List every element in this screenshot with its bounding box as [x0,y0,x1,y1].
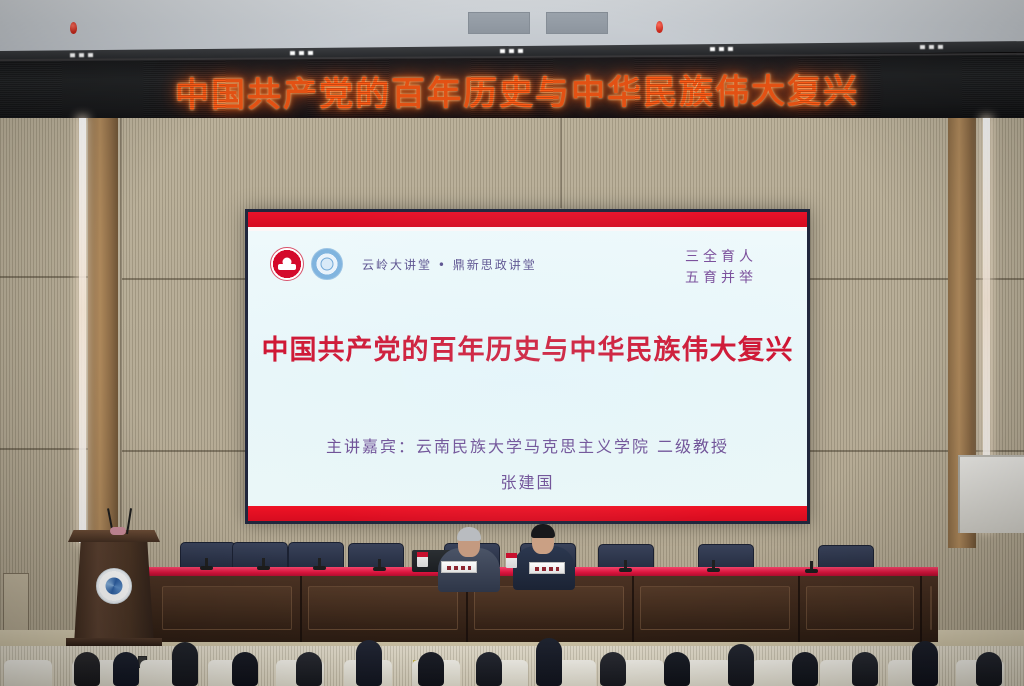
slide-body: 云岭大讲堂 • 鼎新思政讲堂 三全育人 五育并举 中国共产党的百年历史与中华民族… [248,231,807,506]
table-microphone-base [257,566,270,570]
red-emblem-icon [270,247,304,281]
podium-base [66,638,162,646]
audience-head [74,652,100,686]
audience-head [976,652,1002,686]
audience-head [664,652,690,686]
ceiling-led-icon [710,47,734,51]
ceiling-vent-icon [546,12,608,34]
slide-speaker-block: 主讲嘉宾：云南民族大学马克思主义学院 二级教授 张建国 [248,429,807,501]
audience-chair [684,660,732,686]
audience-head [356,640,382,686]
wall-access-door[interactable] [3,573,29,635]
led-marquee-banner: 中国共产党的百年历史与中华民族伟大复兴 [0,53,1024,127]
water-cup [506,553,517,568]
table-panel [806,586,914,630]
table-microphone-base [707,568,720,572]
presentation-slide: 云岭大讲堂 • 鼎新思政讲堂 三全育人 五育并举 中国共产党的百年历史与中华民族… [248,212,807,521]
ceiling-indicator-light-icon [656,21,663,33]
table-panel [308,586,458,630]
table-panel [640,586,790,630]
panelist-hair [531,524,555,538]
ceiling-led-icon [920,45,944,49]
audience-head [232,652,258,686]
wall-wood-column [88,118,118,538]
slide-motto-line-1: 三全育人 [685,247,757,268]
slide-title: 中国共产党的百年历史与中华民族伟大复兴 [248,328,807,367]
table-microphone-base [805,569,818,573]
panelist-nameplate [529,562,565,574]
slide-bottom-accent-bar [248,506,807,521]
audience-head [728,644,754,686]
ceiling-vent-icon [468,12,530,34]
podium-item [110,527,126,535]
wall-equipment-box [958,455,1024,533]
table-panel [474,586,624,630]
ceiling-indicator-light-icon [70,22,77,34]
panelist-nameplate [441,561,477,573]
slide-brand-line: 云岭大讲堂 • 鼎新思政讲堂 [362,256,537,273]
audience-chair [4,660,52,686]
table-microphone-base [200,566,213,570]
audience-head [852,652,878,686]
audience-head [296,652,322,686]
lecture-hall-photo: 中国共产党的百年历史与中华民族伟大复兴 [0,0,1024,686]
ceiling-led-icon [70,53,94,57]
audience-head [113,652,139,686]
table-microphone-base [313,566,326,570]
audience-head [912,641,938,686]
table-microphone-base [619,568,632,572]
ceiling-led-icon [290,51,314,55]
wall-light-strip [79,118,86,543]
table-panel [930,586,932,630]
audience-head [418,652,444,686]
audience-head [792,652,818,686]
slide-motto-line-2: 五育并举 [685,268,757,289]
led-banner-text: 中国共产党的百年历史与中华民族伟大复兴 [0,62,1024,117]
slide-top-accent-bar [248,212,807,227]
audience-head [172,642,198,686]
audience-head [600,652,626,686]
ceiling-led-icon [500,49,524,53]
slide-header: 云岭大讲堂 • 鼎新思政讲堂 三全育人 五育并举 [248,247,807,289]
slide-logo-group: 云岭大讲堂 • 鼎新思政讲堂 [270,247,537,281]
water-cup [417,552,428,567]
panelist-hair [457,527,481,541]
audience-head [476,652,502,686]
podium-spiral-logo-icon [96,568,132,604]
table-panel [162,586,292,630]
blue-emblem-icon [311,248,343,280]
audience-head [536,638,562,686]
table-microphone-base [373,567,386,571]
slide-speaker-line-1: 主讲嘉宾：云南民族大学马克思主义学院 二级教授 [248,429,807,465]
projection-screen[interactable]: 云岭大讲堂 • 鼎新思政讲堂 三全育人 五育并举 中国共产党的百年历史与中华民族… [245,209,810,524]
slide-motto: 三全育人 五育并举 [685,247,785,289]
slide-speaker-line-2: 张建国 [248,465,807,501]
